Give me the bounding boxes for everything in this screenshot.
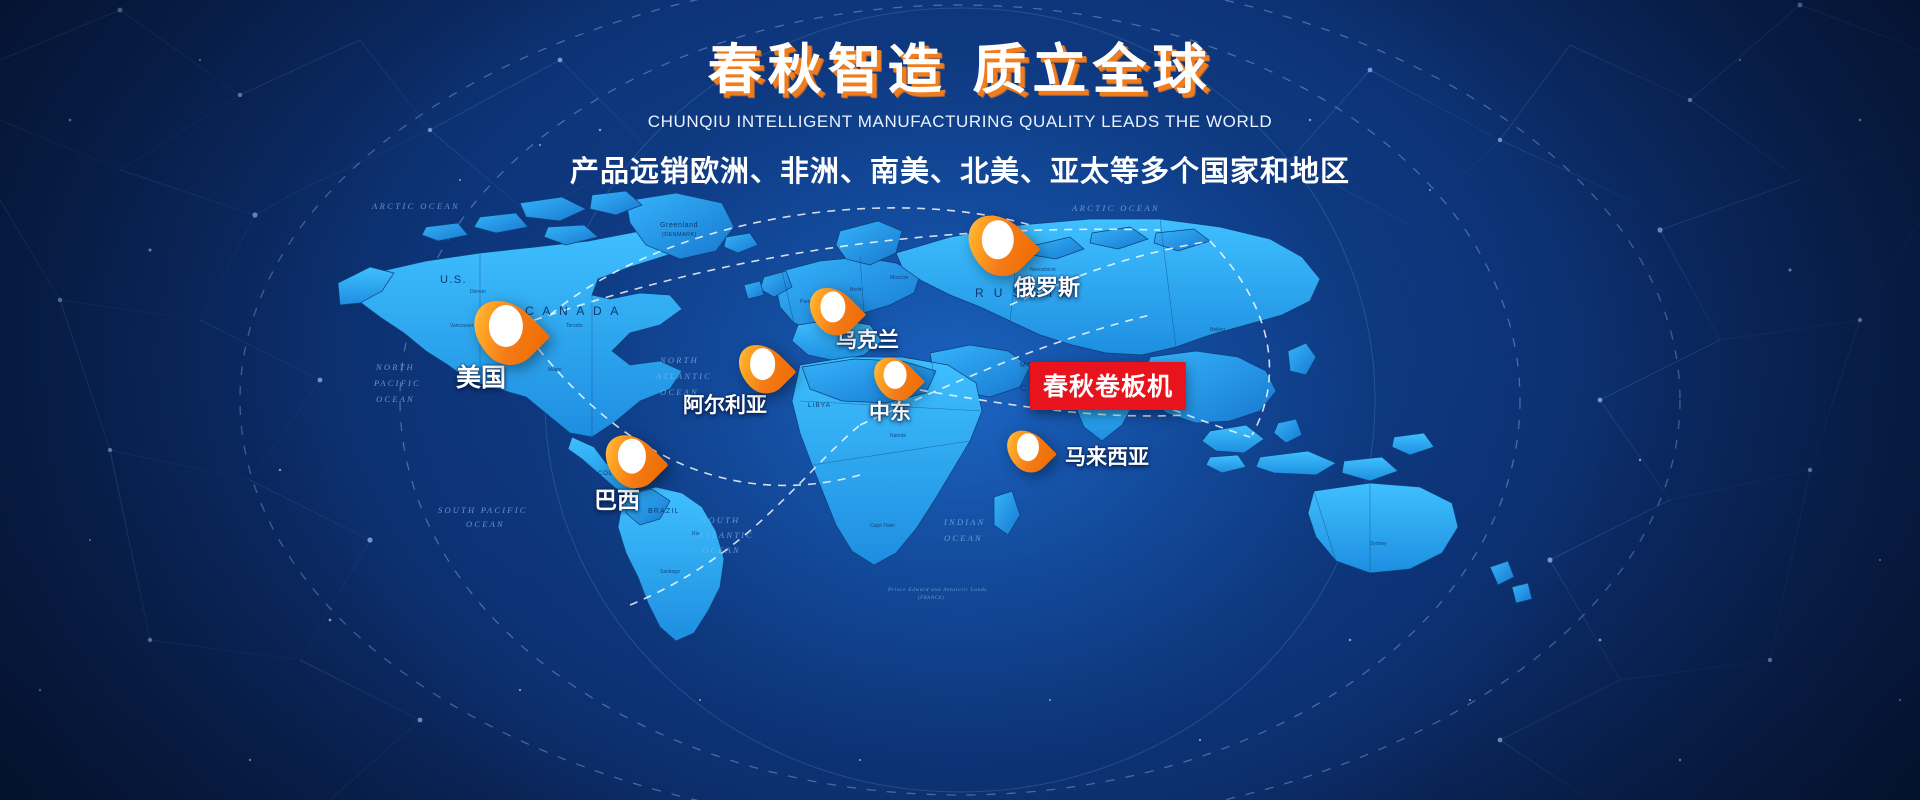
svg-text:U.S.: U.S. <box>440 274 467 286</box>
pin-marker-icon <box>608 432 655 490</box>
map-landmasses <box>338 191 1532 641</box>
map-pin-ukraine[interactable] <box>812 285 854 337</box>
svg-text:OCEAN: OCEAN <box>466 519 505 529</box>
pin-center-dot-icon <box>488 305 522 347</box>
svg-text:NORTH: NORTH <box>659 355 699 365</box>
svg-text:Cape Town: Cape Town <box>870 523 895 529</box>
svg-text:SOUTH: SOUTH <box>702 515 740 525</box>
svg-text:Moscow: Moscow <box>890 275 909 281</box>
svg-text:ARCTIC OCEAN: ARCTIC OCEAN <box>371 201 460 211</box>
svg-text:(DENMARK): (DENMARK) <box>662 232 697 238</box>
map-pin-russia[interactable] <box>971 212 1025 278</box>
svg-text:C A N A D A: C A N A D A <box>525 304 621 318</box>
page-title: 春秋智造 质立全球 <box>0 42 1920 99</box>
svg-text:INDIAN: INDIAN <box>943 517 986 527</box>
pin-marker-icon <box>876 355 914 402</box>
svg-text:Nairobi: Nairobi <box>890 433 906 439</box>
svg-text:SOUTH PACIFIC: SOUTH PACIFIC <box>438 505 528 515</box>
pin-center-dot-icon <box>1016 434 1038 462</box>
svg-text:Prince Edward and Antarctic La: Prince Edward and Antarctic Lands <box>887 587 987 593</box>
pin-marker-icon <box>971 212 1025 278</box>
svg-text:PACIFIC: PACIFIC <box>373 378 421 388</box>
svg-text:Beijing: Beijing <box>1210 327 1225 333</box>
svg-text:Greenland: Greenland <box>660 222 698 229</box>
page-subtitle-english: CHUNQIU INTELLIGENT MANUFACTURING QUALIT… <box>0 112 1920 132</box>
svg-text:Sydney: Sydney <box>1370 541 1387 547</box>
map-pin-algeria[interactable] <box>741 342 784 395</box>
svg-text:BRAZIL: BRAZIL <box>648 508 680 515</box>
svg-text:Rio: Rio <box>692 531 700 537</box>
pin-center-dot-icon <box>750 348 776 380</box>
pin-marker-icon <box>741 342 784 395</box>
header: 春秋智造 质立全球 CHUNQIU INTELLIGENT MANUFACTUR… <box>0 42 1920 190</box>
svg-text:ARCTIC OCEAN: ARCTIC OCEAN <box>1071 203 1160 213</box>
page-description-chinese: 产品远销欧洲、非洲、南美、北美、亚太等多个国家和地区 <box>0 148 1920 190</box>
svg-text:NORTH: NORTH <box>375 362 415 372</box>
map-pin-brazil[interactable] <box>608 432 655 490</box>
pin-marker-icon <box>812 285 854 337</box>
svg-text:Miami: Miami <box>548 367 561 373</box>
product-badge[interactable]: 春秋卷板机 <box>1030 362 1186 410</box>
map-pin-malaysia[interactable] <box>1009 428 1046 474</box>
map-pin-middleeast[interactable] <box>876 355 914 402</box>
svg-text:OCEAN: OCEAN <box>702 545 741 555</box>
svg-text:Vancouver: Vancouver <box>450 323 474 329</box>
map-pin-usa[interactable] <box>477 297 534 367</box>
pin-marker-icon <box>1009 428 1046 474</box>
pin-marker-icon <box>477 297 534 367</box>
map-pin-label-malaysia: 马来西亚 <box>1065 441 1149 471</box>
pin-center-dot-icon <box>617 439 645 474</box>
pin-center-dot-icon <box>884 361 907 389</box>
world-map-svg: U.S. C A N A D A R U S S I A MONGOLIA C … <box>330 175 1590 645</box>
svg-text:ATLANTIC: ATLANTIC <box>697 530 754 540</box>
svg-text:(FRANCE): (FRANCE) <box>918 596 944 601</box>
svg-text:OCEAN: OCEAN <box>944 533 983 543</box>
svg-text:Santiago: Santiago <box>660 569 680 575</box>
svg-text:OCEAN: OCEAN <box>376 394 415 404</box>
svg-text:ATLANTIC: ATLANTIC <box>655 371 712 381</box>
banner-root: 春秋智造 质立全球 CHUNQIU INTELLIGENT MANUFACTUR… <box>0 0 1920 800</box>
pin-center-dot-icon <box>982 220 1014 260</box>
svg-text:LIBYA: LIBYA <box>808 402 831 409</box>
svg-text:Toronto: Toronto <box>566 323 583 329</box>
svg-text:Denver: Denver <box>470 289 486 295</box>
